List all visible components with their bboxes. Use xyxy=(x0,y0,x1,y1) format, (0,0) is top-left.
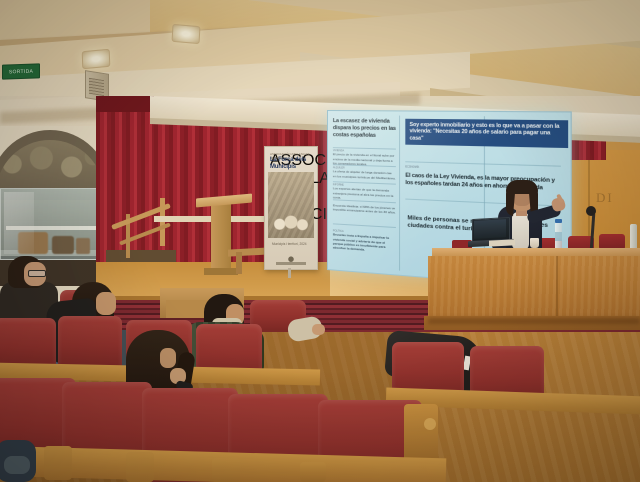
downlight-icon xyxy=(82,49,111,69)
lectern-base xyxy=(204,268,238,275)
banner-caption-text: Municipis i territori, 2024 xyxy=(272,242,312,246)
speaker-face-shadow xyxy=(513,192,531,206)
vitrine-exhibit xyxy=(52,236,74,254)
head-table-shadow xyxy=(428,318,640,324)
eyeglasses-icon xyxy=(28,270,46,277)
wall-logo-text: DI xyxy=(596,190,640,208)
audience-person-shoe xyxy=(4,456,30,474)
vitrine-exhibit xyxy=(76,238,90,254)
exit-sign: SORTIDA xyxy=(2,63,40,79)
seat-armrest xyxy=(44,446,72,480)
downlight-icon xyxy=(172,24,201,44)
laptop-display-glow xyxy=(474,219,506,239)
seat-armrest xyxy=(126,452,154,482)
microphone-icon xyxy=(586,206,596,216)
banner-footer-bar xyxy=(276,262,306,265)
speaker-hair-top xyxy=(506,180,538,194)
head-table-seam xyxy=(556,256,558,320)
seat-armrest xyxy=(404,404,438,464)
head-table-grain xyxy=(428,256,640,320)
audience-person-face xyxy=(96,292,116,315)
banner-pole xyxy=(288,268,291,278)
banner-photo-figures xyxy=(272,206,310,232)
auditorium-photo: SORTIDA DI ASSOCIACIÓ CATALANA xyxy=(0,0,640,482)
vitrine-glass-glare xyxy=(4,192,34,254)
seat-armrest xyxy=(300,462,326,482)
exit-sign-label: SORTIDA xyxy=(9,68,33,75)
audience-person-face xyxy=(160,348,176,368)
cup xyxy=(530,238,539,248)
banner-kicker-text: ASSOCIACIÓ CATALANA DE MUNICIPIS xyxy=(270,152,310,156)
water-bottle-label xyxy=(555,232,562,241)
banner-title-text: La Força dels Municipis xyxy=(270,157,312,170)
audience-person-hand xyxy=(312,324,325,335)
seat-armrest-knob xyxy=(424,418,436,430)
curtain-rail xyxy=(96,96,154,112)
lectern-column xyxy=(211,203,231,273)
stage-bench-leg xyxy=(236,252,242,274)
water-bottle-cap xyxy=(555,219,562,223)
seat-armrest xyxy=(212,458,240,482)
